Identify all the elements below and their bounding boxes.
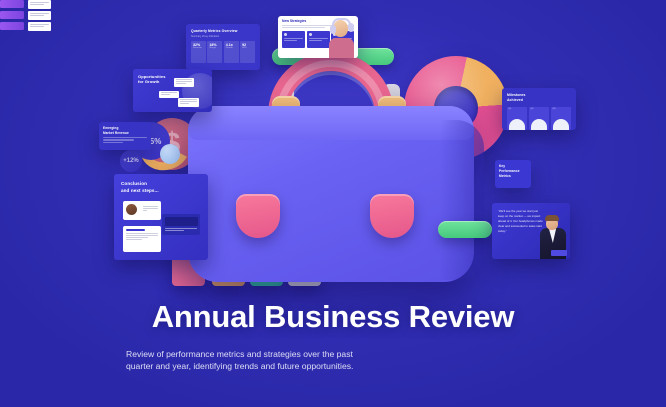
accent-pill-right — [438, 221, 492, 238]
mini-strategies-tile — [282, 31, 305, 48]
text-line — [103, 139, 134, 140]
hero-illustration: $ +55% +12% Quarterly Metrics Overview S… — [0, 0, 666, 300]
text-line — [176, 81, 192, 82]
text-line — [126, 237, 148, 238]
mini-opportunities-note — [178, 98, 199, 107]
text-line — [165, 228, 197, 229]
text-line — [180, 103, 189, 104]
mini-milestones-column: Q2 — [529, 107, 549, 130]
mini-milestones-column: Q1 — [507, 107, 527, 130]
text-line — [282, 27, 325, 28]
kpi-tag — [0, 22, 24, 30]
mini-milestones-key: Q2 — [531, 108, 548, 110]
mini-conclusion-card-photo — [123, 201, 161, 220]
text-line — [161, 94, 170, 95]
mini-opportunities-note — [174, 78, 194, 87]
mini-metrics-cell: 18% Margin — [207, 41, 222, 63]
text-line — [126, 239, 142, 240]
mini-quote-badge — [551, 250, 567, 256]
mini-slide-quote: “We'll see the year we start just keep o… — [492, 203, 570, 259]
mini-metrics-key: Growth — [226, 47, 237, 49]
text-line — [30, 26, 44, 27]
mini-conclusion-card-device — [162, 214, 200, 235]
text-line — [284, 40, 297, 41]
kpi-tag — [0, 0, 24, 8]
mini-conclusion-title: Conclusion and next steps... — [121, 181, 201, 194]
coin-bubble-light — [160, 144, 180, 164]
presenter-photo-woman — [324, 16, 358, 58]
mini-metrics-cell: 32% Revenue — [191, 41, 206, 63]
text-line — [143, 210, 147, 211]
text-line — [180, 99, 197, 100]
mini-metrics-subtitle: Summary of key indicators — [191, 35, 255, 38]
kpi-value-card — [28, 0, 51, 9]
mini-slide-kpi-panel: Key Performance Metrics — [495, 160, 531, 188]
text-line — [126, 229, 145, 231]
text-line — [30, 15, 44, 16]
mini-metrics-key: NPS — [242, 47, 253, 49]
mini-slide-kpi-list — [0, 0, 58, 40]
text-line — [284, 38, 303, 39]
briefcase-latch-right — [370, 194, 414, 238]
mini-metrics-key: Margin — [209, 47, 220, 49]
laptop-screen-icon — [165, 217, 198, 226]
bullet-dot-icon — [284, 33, 287, 36]
mini-milestones-columns: Q1 Q2 Q3 — [507, 107, 571, 130]
mini-slide-new-strategies: New Strategies — [278, 16, 358, 58]
bullet-dot-icon — [309, 33, 312, 36]
kpi-value-card — [28, 11, 51, 20]
text-line — [126, 233, 158, 234]
mini-conclusion-card-text — [123, 226, 161, 252]
presentation-slide: $ +55% +12% Quarterly Metrics Overview S… — [0, 0, 666, 407]
mini-metrics-cell: 92 NPS — [240, 41, 255, 63]
text-line — [126, 235, 158, 236]
text-line — [30, 2, 49, 3]
text-line — [180, 101, 197, 102]
mini-kpi-panel-title: Key Performance Metrics — [499, 164, 527, 178]
person-hair — [545, 215, 559, 221]
text-line — [103, 142, 123, 143]
text-line — [309, 40, 322, 41]
kpi-tag — [0, 11, 24, 19]
briefcase-side-shadow — [440, 120, 484, 280]
text-line — [143, 208, 158, 209]
mini-milestones-key: Q3 — [553, 108, 570, 110]
mini-growth-title: Emerging Market Revenue — [103, 126, 147, 136]
mini-milestones-title: Milestones Achieved — [507, 93, 571, 103]
slide-text-block: Annual Business Review Review of perform… — [0, 300, 666, 373]
headphone-cup-left-icon — [330, 25, 336, 34]
text-line — [30, 4, 44, 5]
mini-slide-conclusion: Conclusion and next steps... — [114, 174, 208, 260]
dome-shape — [553, 119, 569, 130]
mini-metrics-title: Quarterly Metrics Overview — [191, 29, 255, 34]
briefcase-latch-left — [236, 194, 280, 238]
text-line — [176, 83, 186, 84]
mini-metrics-cell: 4.1x Growth — [224, 41, 239, 63]
presenter-body — [329, 38, 354, 58]
headphone-cup-right-icon — [348, 23, 354, 32]
text-line — [30, 24, 49, 25]
text-line — [30, 13, 49, 14]
mini-milestones-column: Q3 — [551, 107, 571, 130]
text-line — [103, 137, 147, 138]
mini-opportunities-note — [159, 91, 179, 98]
mini-slide-growth-metric: Emerging Market Revenue — [99, 122, 151, 150]
mini-slide-metrics-table: Quarterly Metrics Overview Summary of ke… — [186, 24, 260, 70]
text-line — [165, 230, 184, 231]
mini-slide-opportunities: Opportunities for Growth — [133, 69, 212, 112]
text-line — [161, 92, 177, 93]
dome-shape — [509, 119, 525, 130]
person-avatar — [126, 204, 137, 215]
page-title: Annual Business Review — [0, 300, 666, 334]
briefcase-lid — [188, 106, 474, 140]
coin-badge-secondary: +12% — [120, 150, 142, 172]
page-subtitle: Review of performance metrics and strate… — [126, 348, 382, 372]
mini-slide-milestones: Milestones Achieved Q1 Q2 Q3 — [502, 88, 576, 130]
mini-metrics-key: Revenue — [193, 47, 204, 49]
mini-metrics-grid: 32% Revenue 18% Margin 4.1x Growth 92 NP… — [191, 41, 255, 63]
dome-shape — [531, 119, 547, 130]
text-line — [143, 206, 158, 207]
text-line — [176, 79, 192, 80]
kpi-value-card — [28, 22, 51, 31]
mini-milestones-key: Q1 — [509, 108, 526, 110]
